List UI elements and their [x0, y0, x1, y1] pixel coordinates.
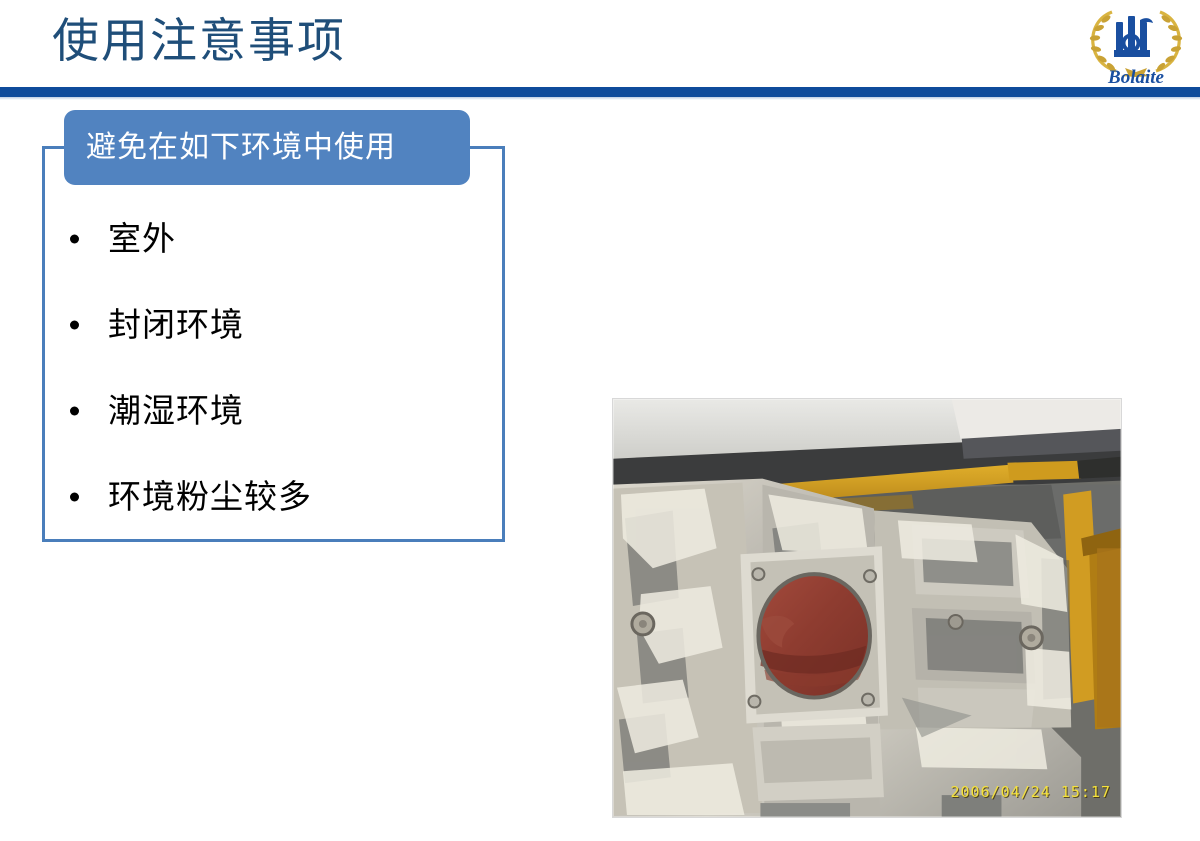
- list-item: 封闭环境: [70, 282, 490, 368]
- header-accent-bar-shadow: [0, 97, 1200, 100]
- bullet-dot-icon: [70, 407, 79, 416]
- list-item-label: 室外: [108, 220, 176, 258]
- callout-header: 避免在如下环境中使用: [64, 110, 470, 185]
- bullet-dot-icon: [70, 493, 79, 502]
- page-title: 使用注意事项: [52, 8, 346, 74]
- list-item-label: 潮湿环境: [108, 392, 244, 430]
- list-item-label: 环境粉尘较多: [108, 478, 312, 516]
- list-item: 环境粉尘较多: [70, 454, 490, 540]
- bullet-dot-icon: [70, 235, 79, 244]
- list-item: 潮湿环境: [70, 368, 490, 454]
- brand-logo: Bolaite: [1078, 2, 1194, 86]
- bullet-dot-icon: [70, 321, 79, 330]
- list-item-label: 封闭环境: [108, 306, 244, 344]
- avoid-environment-list: 室外 封闭环境 潮湿环境 环境粉尘较多: [70, 196, 490, 540]
- slide: 使用注意事项: [0, 0, 1200, 841]
- logo-wordmark: Bolaite: [1107, 67, 1165, 86]
- equipment-photo: 2006/04/24 15:17: [612, 398, 1122, 818]
- callout-header-label: 避免在如下环境中使用: [86, 131, 396, 165]
- photo-timestamp: 2006/04/24 15:17: [951, 783, 1112, 801]
- list-item: 室外: [70, 196, 490, 282]
- header-accent-bar: [0, 87, 1200, 97]
- emblem-icon: [1114, 16, 1153, 57]
